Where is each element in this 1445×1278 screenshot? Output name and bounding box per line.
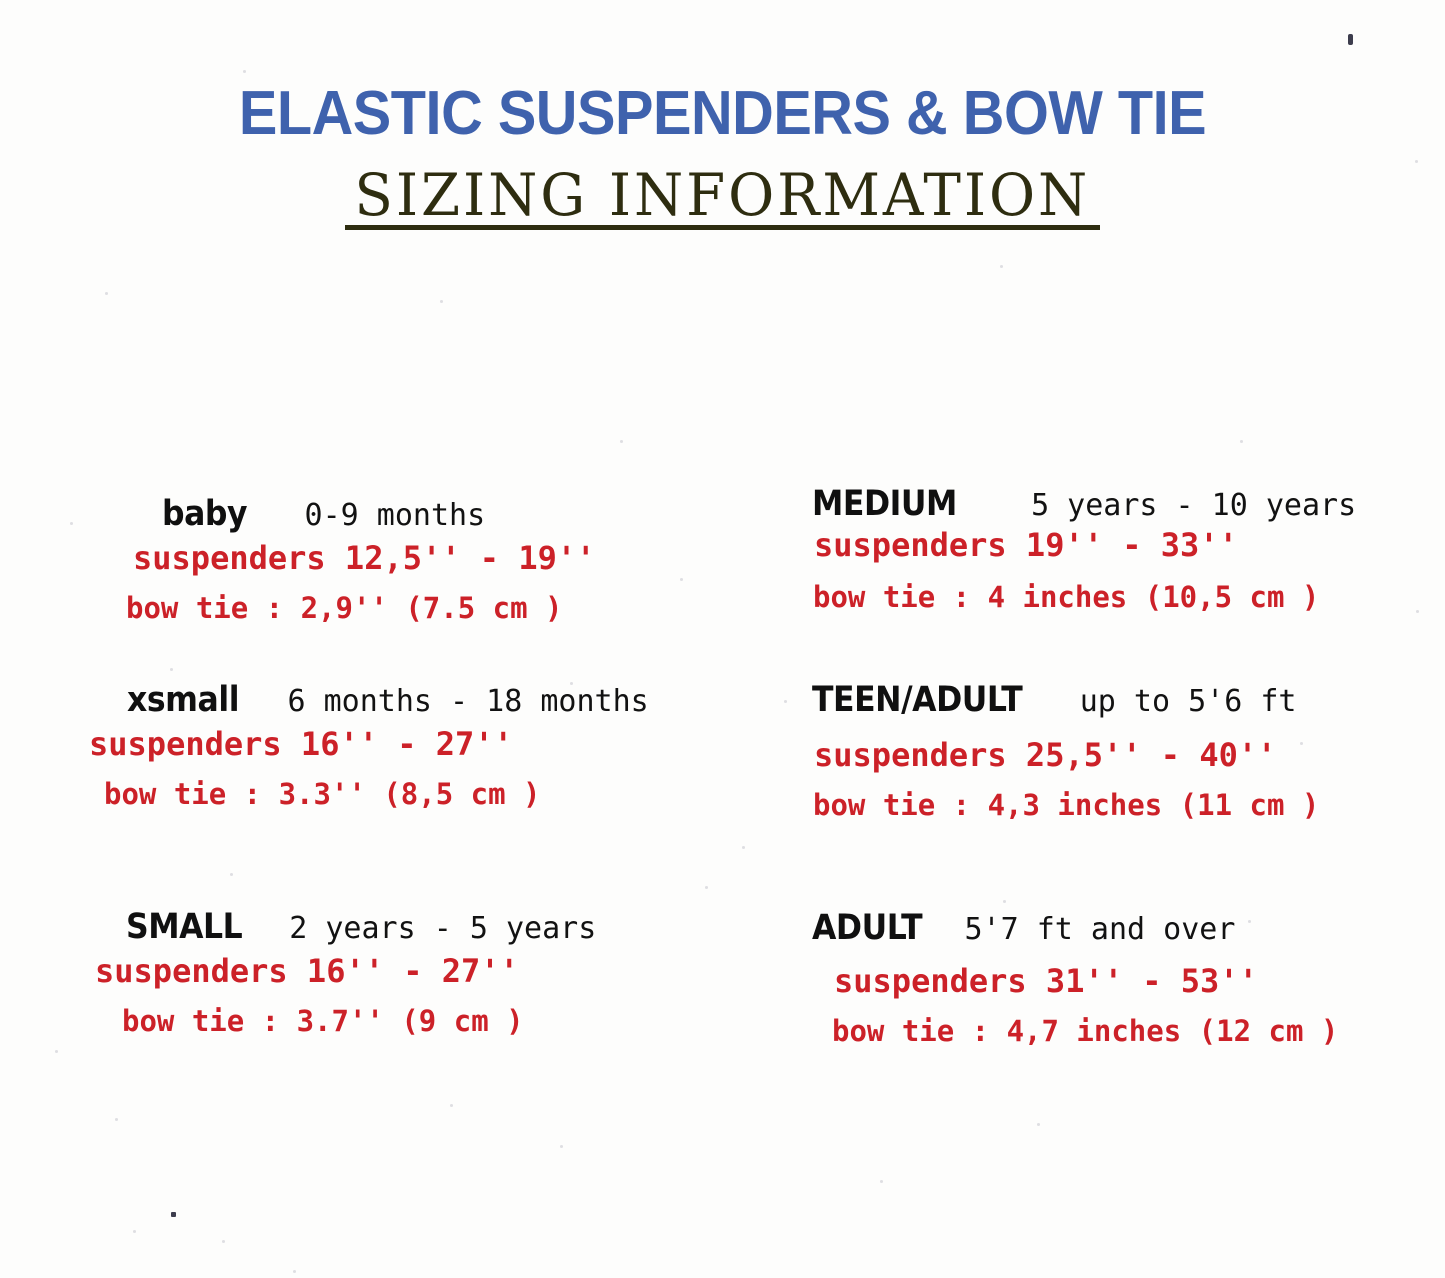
bow-tie-measurement: bow tie : 2,9'' (7.5 cm ) xyxy=(126,591,595,625)
bow-tie-measurement: bow tie : 3.3'' (8,5 cm ) xyxy=(104,777,649,811)
size-label: xsmall xyxy=(127,680,239,720)
size-entry-baby: baby 0-9 months suspenders 12,5'' - 19''… xyxy=(126,494,595,625)
bow-tie-measurement: bow tie : 4,7 inches (12 cm ) xyxy=(832,1014,1338,1048)
suspenders-measurement: suspenders 12,5'' - 19'' xyxy=(133,539,595,577)
size-heading-row: SMALL 2 years - 5 years xyxy=(90,907,596,947)
subtitle-underline xyxy=(345,225,1100,230)
size-label: ADULT xyxy=(812,908,922,948)
size-entry-teen-adult: TEEN/ADULT up to 5'6 ft suspenders 25,5'… xyxy=(812,680,1319,822)
suspenders-measurement: suspenders 31'' - 53'' xyxy=(834,962,1338,1000)
size-label: SMALL xyxy=(126,907,242,947)
size-heading-row: xsmall 6 months - 18 months xyxy=(86,680,649,720)
size-heading-row: MEDIUM 5 years - 10 years xyxy=(812,484,1356,524)
size-heading-row: baby 0-9 months xyxy=(126,494,595,534)
size-label: TEEN/ADULT xyxy=(812,680,1022,720)
bow-tie-measurement: bow tie : 4,3 inches (11 cm ) xyxy=(813,788,1319,822)
size-entry-medium: MEDIUM 5 years - 10 years suspenders 19'… xyxy=(812,484,1356,614)
size-label: MEDIUM xyxy=(812,484,957,524)
size-age-range: 2 years - 5 years xyxy=(289,911,596,946)
size-age-range: 6 months - 18 months xyxy=(288,684,649,719)
size-heading-row: TEEN/ADULT up to 5'6 ft xyxy=(812,680,1319,720)
size-label: baby xyxy=(162,494,247,534)
size-entry-adult: ADULT 5'7 ft and over suspenders 31'' - … xyxy=(812,908,1338,1048)
bow-tie-measurement: bow tie : 4 inches (10,5 cm ) xyxy=(813,580,1356,614)
size-entry-small: SMALL 2 years - 5 years suspenders 16'' … xyxy=(90,907,596,1038)
page-subtitle: SIZING INFORMATION xyxy=(355,165,1091,226)
page-title: ELASTIC SUSPENDERS & BOW TIE xyxy=(51,82,1395,145)
suspenders-measurement: suspenders 19'' - 33'' xyxy=(814,526,1356,564)
size-age-range: up to 5'6 ft xyxy=(1080,684,1297,719)
suspenders-measurement: suspenders 16'' - 27'' xyxy=(89,725,649,763)
size-age-range: 0-9 months xyxy=(305,498,486,533)
subtitle-group: SIZING INFORMATION xyxy=(343,165,1102,226)
bow-tie-measurement: bow tie : 3.7'' (9 cm ) xyxy=(122,1004,596,1038)
suspenders-measurement: suspenders 25,5'' - 40'' xyxy=(814,736,1319,774)
size-entry-xsmall: xsmall 6 months - 18 months suspenders 1… xyxy=(86,680,649,811)
suspenders-measurement: suspenders 16'' - 27'' xyxy=(95,952,596,990)
size-age-range: 5 years - 10 years xyxy=(1031,488,1356,523)
size-age-range: 5'7 ft and over xyxy=(964,912,1235,947)
document-header: ELASTIC SUSPENDERS & BOW TIE SIZING INFO… xyxy=(0,82,1445,226)
size-heading-row: ADULT 5'7 ft and over xyxy=(812,908,1338,948)
